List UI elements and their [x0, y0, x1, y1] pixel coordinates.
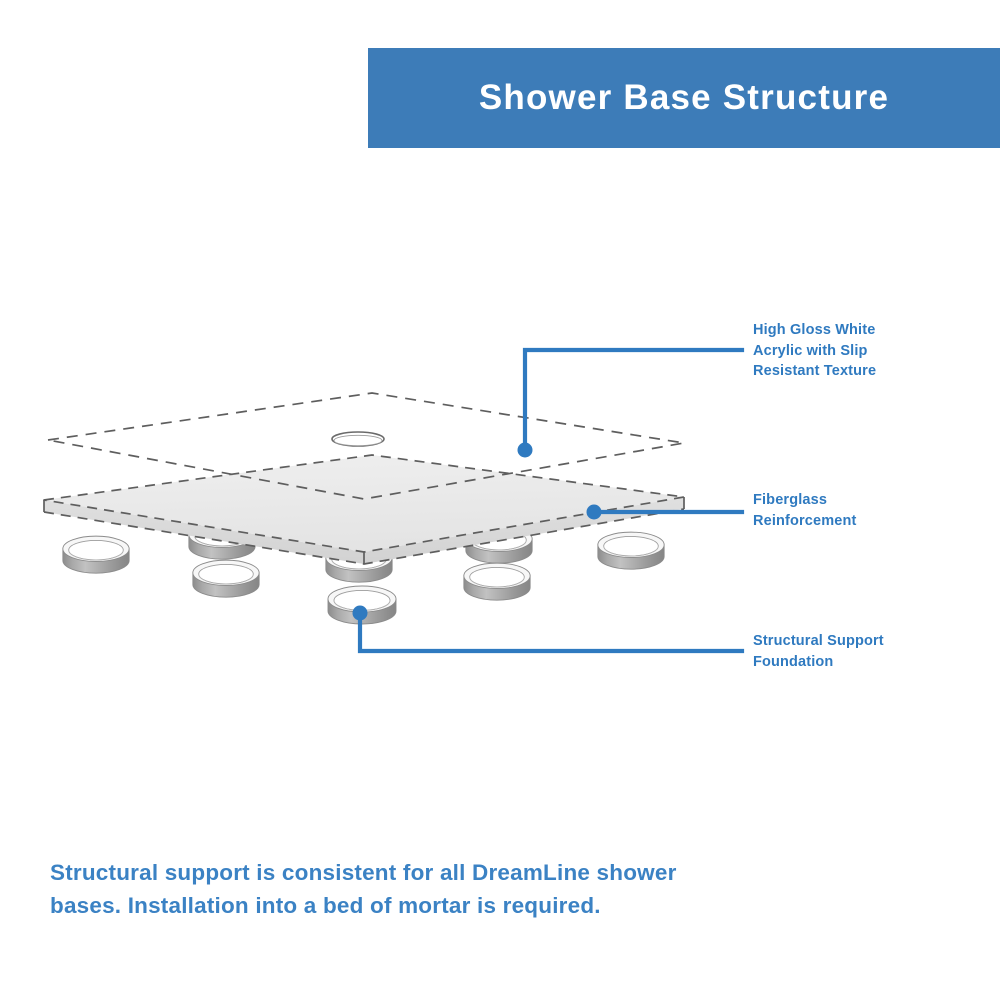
callout-label-support: Structural Support Foundation: [753, 631, 963, 672]
leader-line-acrylic: [518, 350, 743, 458]
support-ring: [63, 536, 129, 573]
footer-caption: Structural support is consistent for all…: [50, 857, 690, 922]
support-ring: [598, 532, 664, 569]
diagram-page: Shower Base Structure: [0, 0, 1000, 1000]
callout-label-acrylic: High Gloss White Acrylic with Slip Resis…: [753, 320, 953, 382]
drain-opening-icon: [332, 432, 384, 446]
leader-line-support: [353, 606, 743, 652]
support-ring: [464, 563, 530, 600]
support-ring: [193, 560, 259, 597]
callout-label-fiberglass: Fiberglass Reinforcement: [753, 490, 953, 531]
